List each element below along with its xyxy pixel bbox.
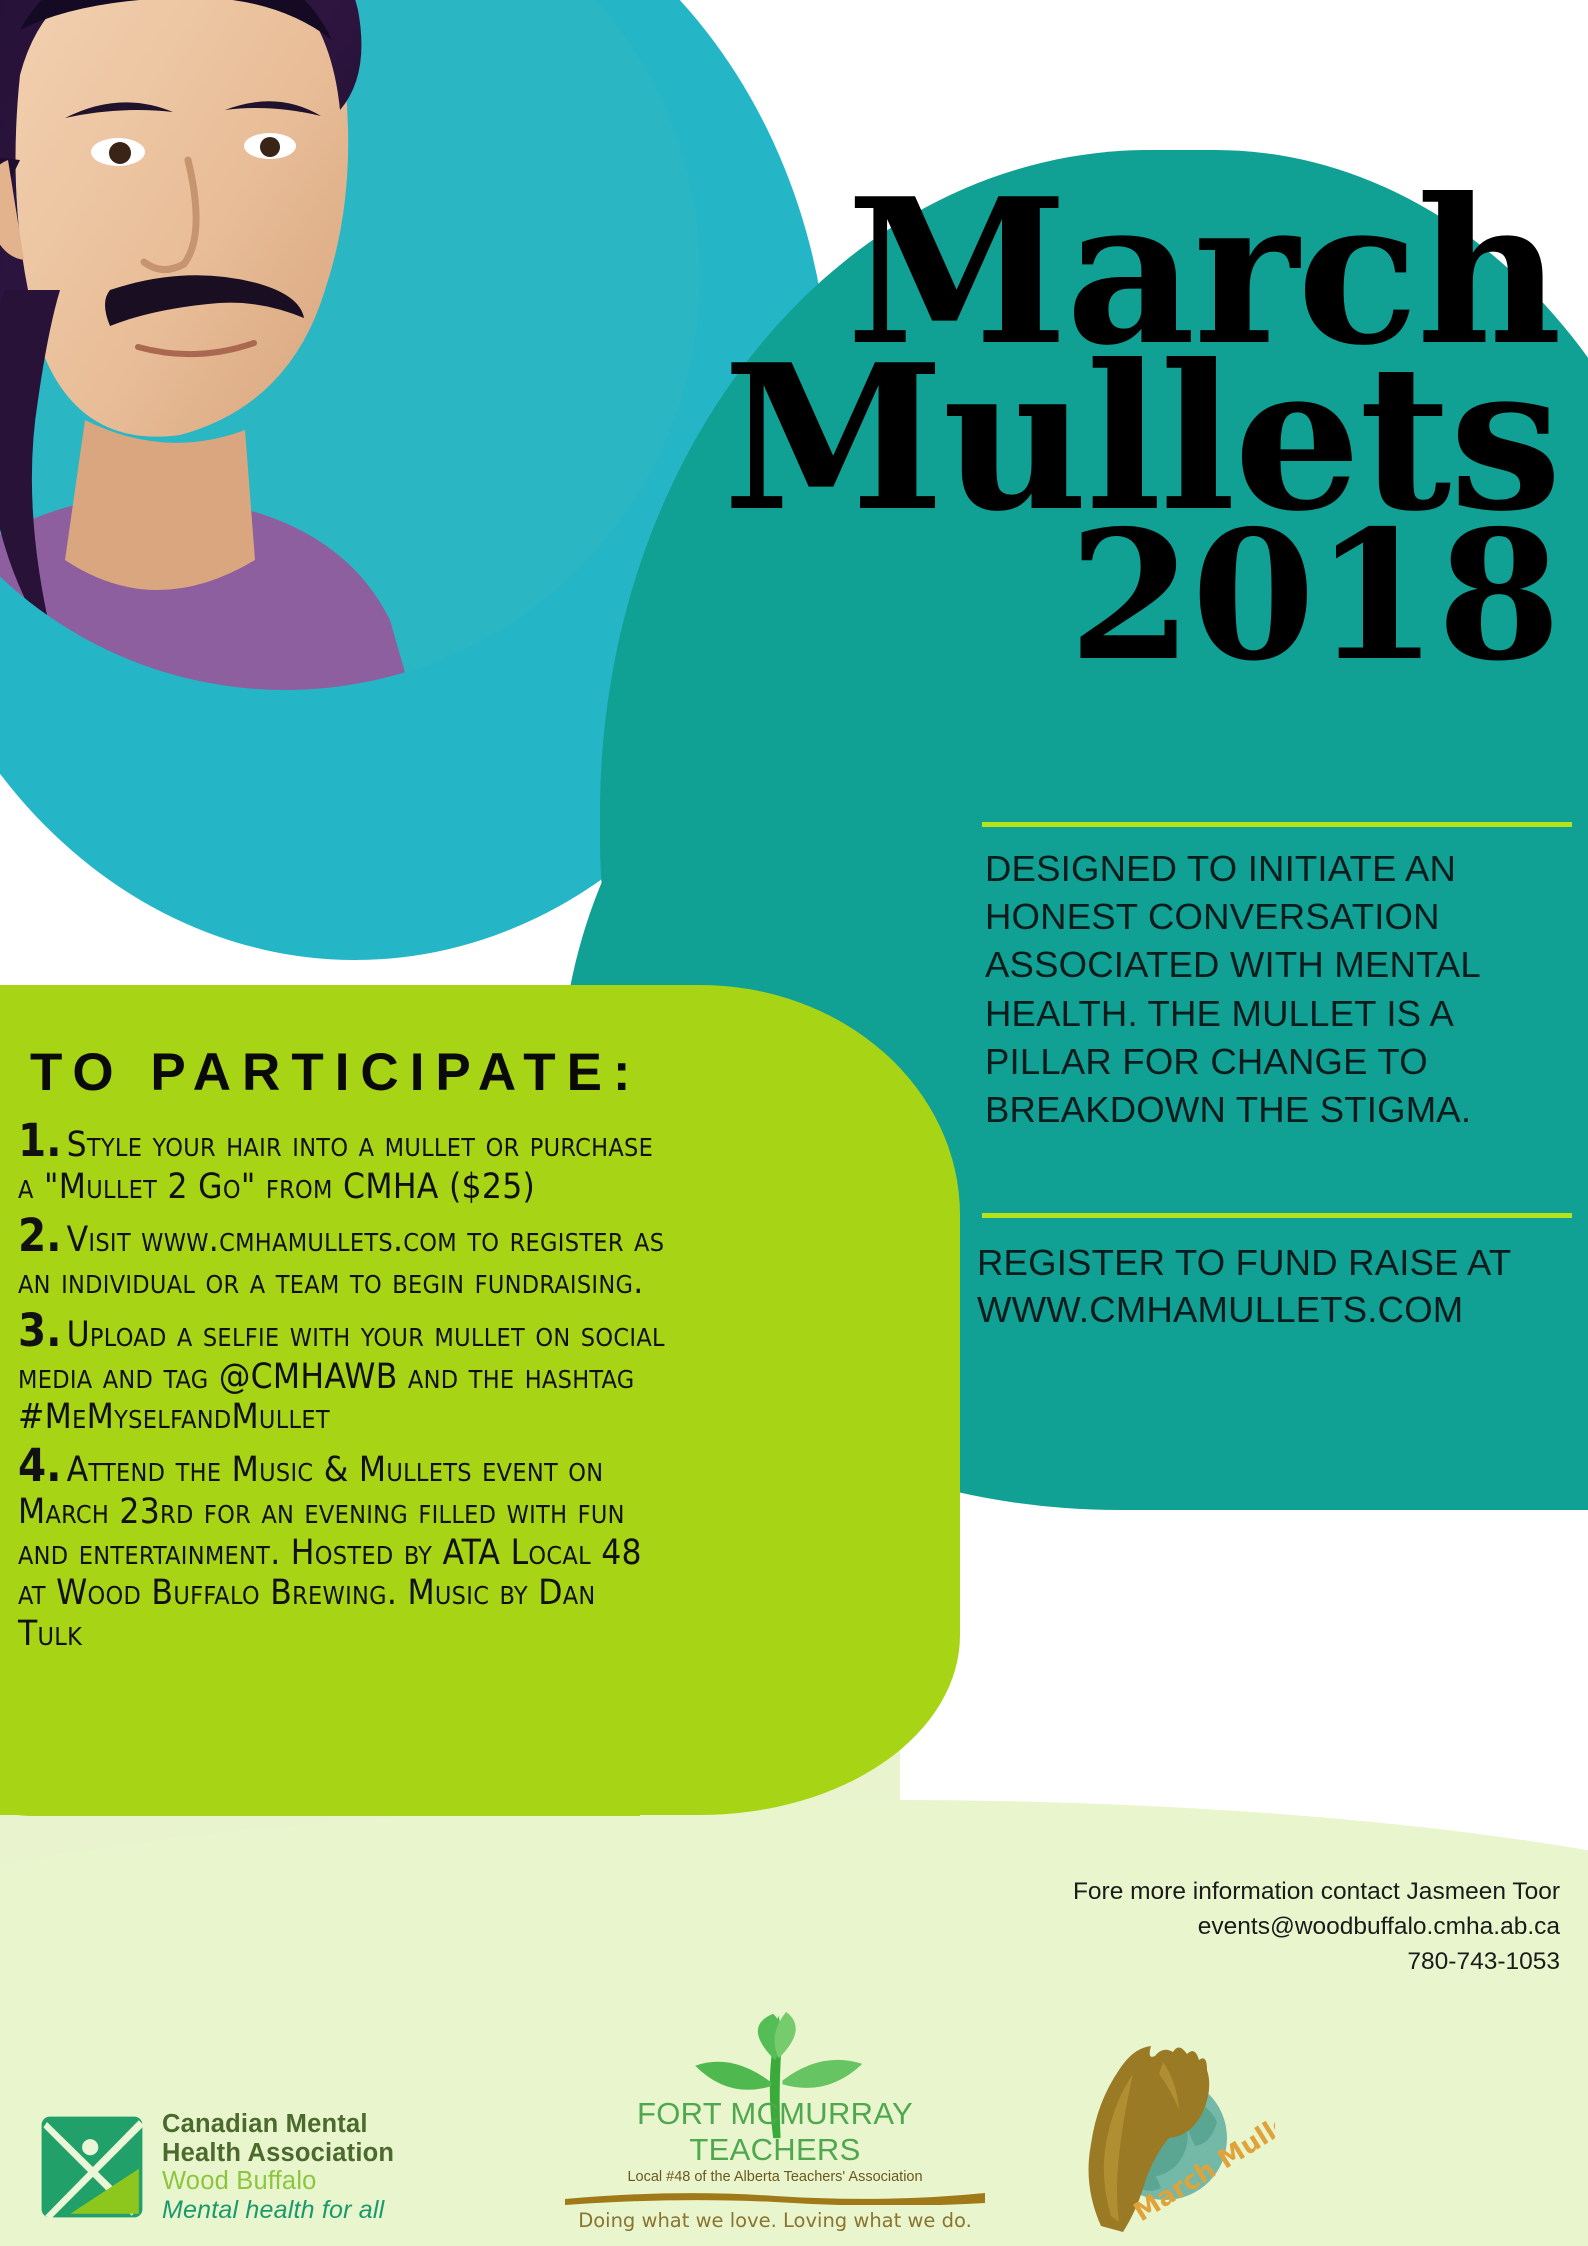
logo-strip: Canadian Mental Health Association Wood … [0,2006,1588,2246]
step-text: Upload a selfie with your mullet on soci… [18,1315,665,1438]
participate-heading: TO PARTICIPATE: [30,1042,642,1103]
cmha-logo: Canadian Mental Health Association Wood … [38,2110,394,2224]
contact-line-phone: 780-743-1053 [1073,1945,1560,1980]
list-item: 4.Attend the Music & Mullets event on Ma… [18,1440,668,1655]
fmt-subtitle: Local #48 of the Alberta Teachers' Assoc… [560,2169,990,2185]
contact-block: Fore more information contact Jasmeen To… [1073,1875,1560,1979]
divider-rule-middle [982,1213,1572,1218]
cmha-logo-text: Canadian Mental Health Association Wood … [162,2110,394,2224]
march-mullet-globe-icon: March Mullet [1045,2026,1275,2236]
cmha-mark-icon [38,2113,146,2221]
poster-canvas: March Mullets 2018 DESIGNED TO INITIATE … [0,0,1588,2246]
step-text: Style your hair into a mullet or purchas… [18,1125,653,1207]
list-item: 1.Style your hair into a mullet or purch… [18,1115,668,1208]
cmha-line-2: Health Association [162,2139,394,2168]
step-number: 2. [18,1209,62,1262]
step-text: Attend the Music & Mullets event on Marc… [18,1450,642,1654]
fmt-tagline: Doing what we love. Loving what we do. [560,2209,990,2232]
cmha-line-3: Wood Buffalo [162,2167,394,2196]
fmt-name: FORT MCMURRAY TEACHERS [560,2096,990,2168]
divider-rule-top [982,822,1572,827]
participate-steps-list: 1.Style your hair into a mullet or purch… [18,1115,668,1657]
step-text: Visit www.cmhamullets.com to register as… [18,1220,664,1302]
page-title: March Mullets 2018 [480,190,1560,670]
list-item: 3.Upload a selfie with your mullet on so… [18,1305,668,1438]
contact-line-email: events@woodbuffalo.cmha.ab.ca [1073,1910,1560,1945]
cmha-line-1: Canadian Mental [162,2110,394,2139]
soil-icon [565,2189,985,2205]
description-text: DESIGNED TO INITIATE AN HONEST CONVERSAT… [985,845,1585,1134]
contact-line-name: Fore more information contact Jasmeen To… [1073,1875,1560,1910]
register-call-to-action: REGISTER TO FUND RAISE AT WWW.CMHAMULLET… [977,1240,1587,1333]
step-number: 4. [18,1439,62,1492]
step-number: 1. [18,1114,62,1167]
fort-mcmurray-teachers-logo: FORT MCMURRAY TEACHERS Local #48 of the … [560,2010,990,2232]
list-item: 2.Visit www.cmhamullets.com to register … [18,1210,668,1303]
cmha-tagline: Mental health for all [162,2196,394,2224]
step-number: 3. [18,1304,62,1357]
march-mullet-logo: March Mullet [1045,2026,1275,2236]
fmt-text-row: FORT MCMURRAY TEACHERS Local #48 of the … [560,2096,990,2185]
